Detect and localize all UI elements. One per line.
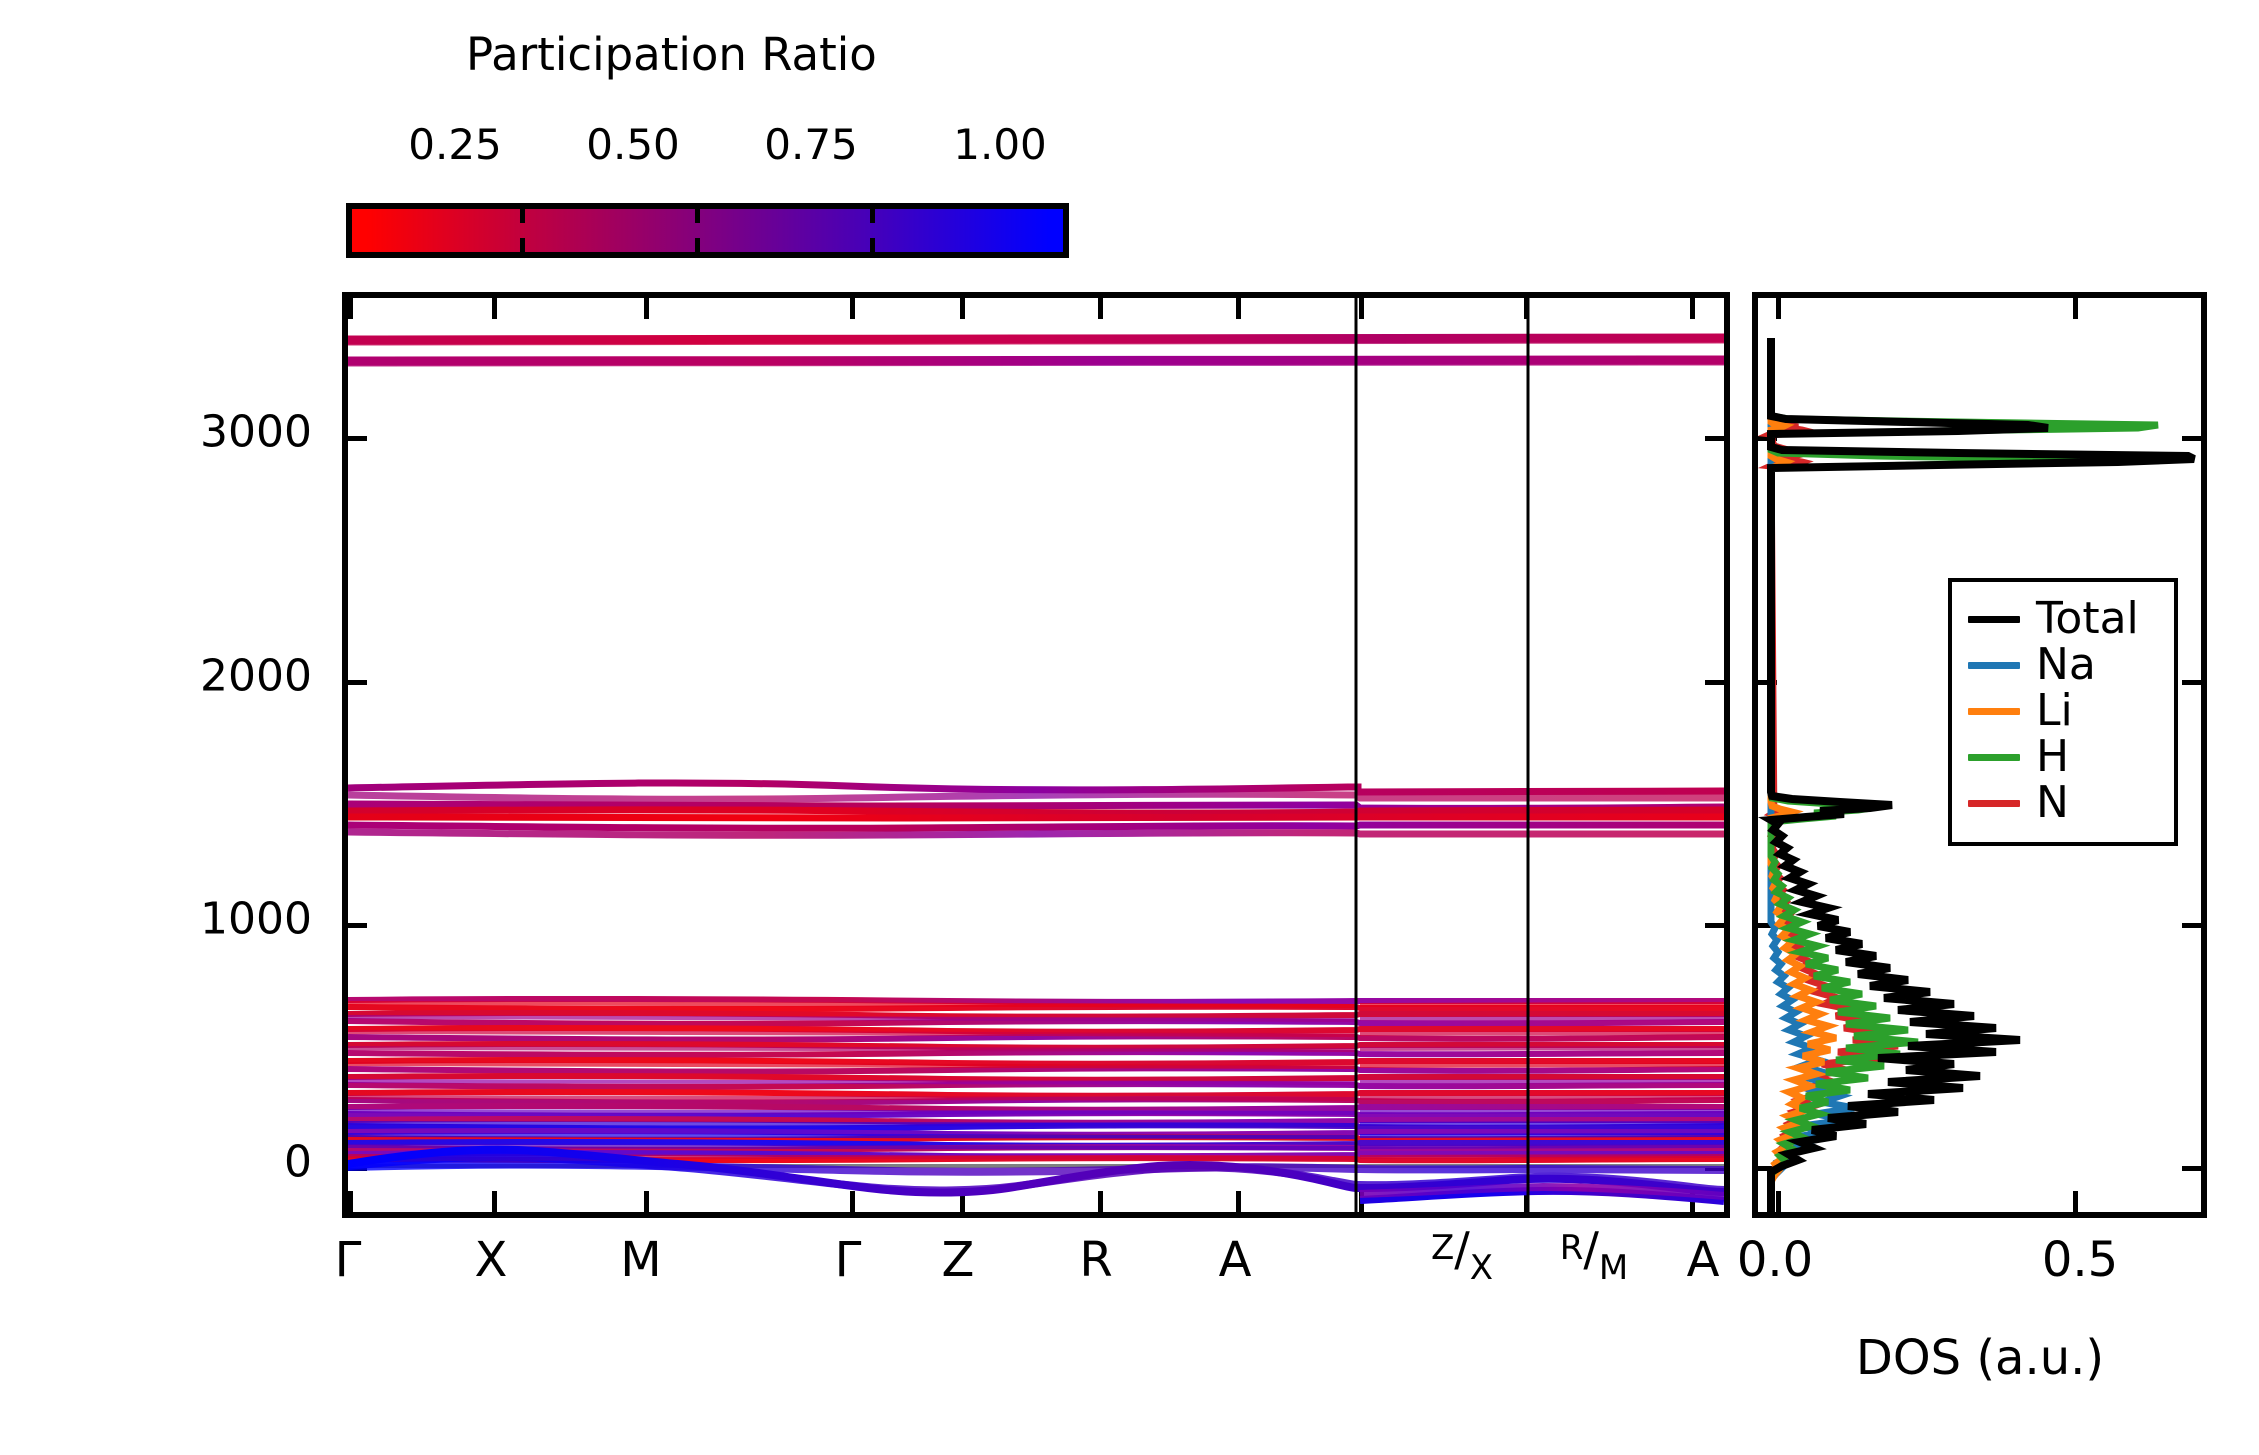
colorbar-tick-top-2 [695, 209, 700, 223]
ytick-label-1000: 1000 [200, 894, 312, 945]
ytick-label-0: 0 [284, 1137, 312, 1188]
xtick-label-m: M [620, 1232, 661, 1288]
fraction-slash-2: / [1583, 1222, 1599, 1276]
xtick-label-gamma-1: Γ [335, 1232, 362, 1288]
band-curves-layer [348, 298, 1724, 1212]
legend-swatch-total [1968, 616, 2020, 623]
fraction-slash-1: / [1454, 1222, 1470, 1276]
legend-label-total: Total [2036, 597, 2139, 641]
colorbar-tick-bottom-1 [520, 238, 525, 252]
dos-axis-label: DOS (a.u.) [1856, 1330, 2104, 1386]
colorbar-label-3: 1.00 [953, 120, 1047, 169]
legend-label-h: H [2036, 735, 2069, 779]
legend-swatch-li [1968, 708, 2020, 715]
xtick-label-r-over-m-denominator: M [1599, 1248, 1628, 1288]
xtick-label-x: X [475, 1232, 508, 1288]
xtick-label-z-over-x-numerator: Z [1431, 1228, 1454, 1268]
xtick-label-r: R [1079, 1232, 1112, 1288]
legend-label-n: N [2036, 781, 2069, 825]
colorbar-label-2: 0.75 [764, 120, 858, 169]
ytick-label-3000: 3000 [200, 407, 312, 458]
colorbar-tick-bottom-3 [870, 238, 875, 252]
colorbar-label-0: 0.25 [408, 120, 502, 169]
legend-item-h[interactable]: H [1968, 734, 2158, 780]
xtick-label-z-over-x: Z/X [1431, 1226, 1493, 1272]
xtick-label-z-over-x-denominator: X [1470, 1248, 1493, 1288]
dos-legend[interactable]: Total Na Li H N [1948, 578, 2178, 846]
legend-item-na[interactable]: Na [1968, 642, 2158, 688]
colorbar-tick-top-3 [870, 209, 875, 223]
legend-label-li: Li [2036, 689, 2073, 733]
legend-item-total[interactable]: Total [1968, 596, 2158, 642]
xtick-label-r-over-m-numerator: R [1560, 1228, 1584, 1268]
colorbar-tick-top-1 [520, 209, 525, 223]
band-structure-plot [348, 298, 1724, 1212]
xtick-label-r-over-m: R/M [1560, 1226, 1628, 1272]
participation-ratio-colorbar[interactable] [346, 203, 1069, 258]
legend-swatch-na [1968, 662, 2020, 669]
dos-xtick-label-0: 0.0 [1737, 1232, 1813, 1288]
xtick-label-a-2: A [1687, 1232, 1720, 1288]
legend-item-n[interactable]: N [1968, 780, 2158, 826]
dos-xtick-label-05: 0.5 [2042, 1232, 2118, 1288]
colorbar-tick-bottom-2 [695, 238, 700, 252]
ytick-label-2000: 2000 [200, 651, 312, 702]
colorbar-title: Participation Ratio [466, 28, 877, 81]
colorbar-label-1: 0.50 [586, 120, 680, 169]
colorbar-gradient [352, 209, 1063, 252]
legend-item-li[interactable]: Li [1968, 688, 2158, 734]
legend-swatch-h [1968, 754, 2020, 761]
xtick-label-gamma-2: Γ [835, 1232, 862, 1288]
band-structure-axes[interactable] [342, 292, 1730, 1218]
legend-label-na: Na [2036, 643, 2096, 687]
figure-canvas: Participation Ratio 0.25 0.50 0.75 1.00 … [0, 0, 2259, 1455]
xtick-label-a-1: A [1219, 1232, 1252, 1288]
legend-swatch-n [1968, 800, 2020, 807]
xtick-label-z: Z [942, 1232, 975, 1288]
